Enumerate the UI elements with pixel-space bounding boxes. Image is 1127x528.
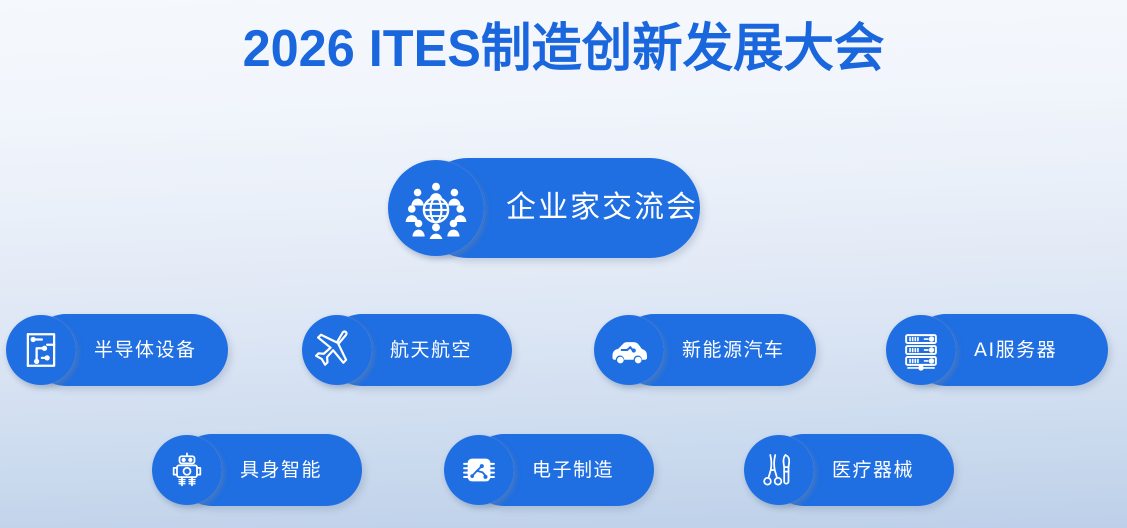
pill-embodied-intelligence[interactable]: 具身智能 [152, 434, 362, 506]
hero-pill-label: 企业家交流会 [506, 158, 698, 258]
pill-medical-devices[interactable]: 医疗器械 [744, 434, 954, 506]
surgical-instruments-icon [744, 435, 814, 505]
pill-electronics-manufacturing[interactable]: 电子制造 [444, 434, 654, 506]
pill-label: 半导体设备 [94, 314, 197, 386]
pill-ai-server[interactable]: AI服务器 [886, 314, 1108, 386]
pill-label: 航天航空 [390, 314, 472, 386]
pill-label: 电子制造 [532, 434, 614, 506]
server-rack-icon [886, 315, 956, 385]
circuit-board-icon [6, 315, 76, 385]
people-globe-icon [388, 160, 484, 256]
pill-new-energy-vehicle[interactable]: 新能源汽车 [594, 314, 816, 386]
airplane-icon [302, 315, 372, 385]
pill-label: AI服务器 [974, 314, 1057, 386]
pill-aerospace[interactable]: 航天航空 [302, 314, 512, 386]
poster-stage: 2026 ITES制造创新发展大会 [0, 0, 1127, 528]
pill-semiconductor-equipment[interactable]: 半导体设备 [6, 314, 228, 386]
chip-icon [444, 435, 514, 505]
electric-car-icon [594, 315, 664, 385]
page-title: 2026 ITES制造创新发展大会 [17, 18, 1110, 80]
pill-label: 新能源汽车 [682, 314, 785, 386]
pill-label: 具身智能 [240, 434, 322, 506]
hero-pill-entrepreneur-exchange[interactable]: 企业家交流会 [388, 158, 700, 258]
pill-label: 医疗器械 [832, 434, 914, 506]
robot-icon [152, 435, 222, 505]
